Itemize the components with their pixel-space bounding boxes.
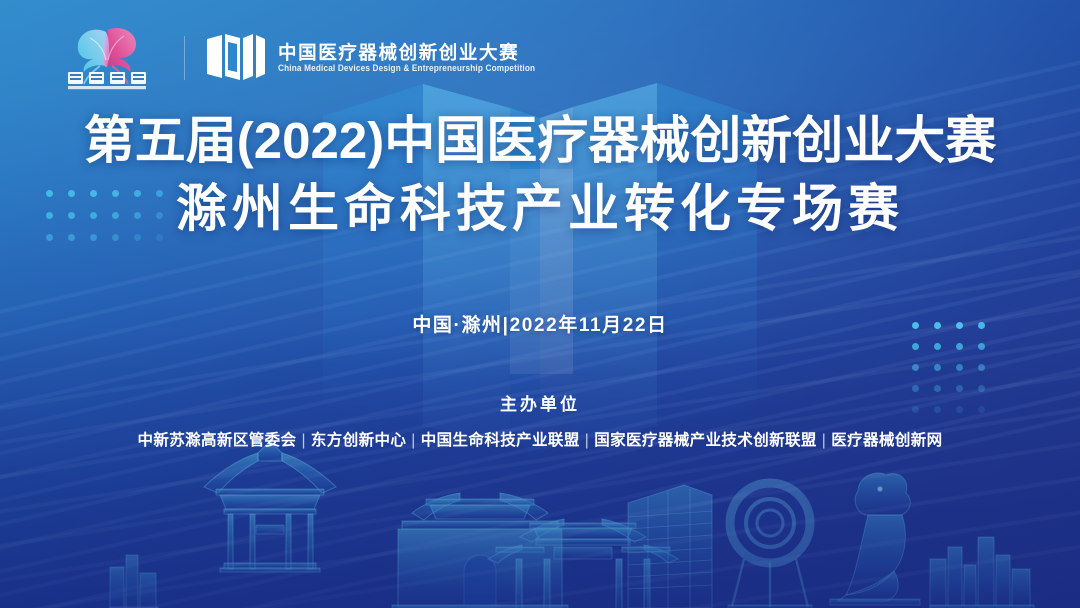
competition-title-cn: 中国医疗器械创新创业大赛 (278, 43, 535, 62)
organizer-name: 东方创新中心 (311, 432, 406, 449)
organizer-name: 医疗器械创新网 (831, 432, 942, 449)
page-title: 第五届(2022)中国医疗器械创新创业大赛 滁州生命科技产业转化专场赛 (0, 112, 1080, 238)
event-meta: 中国·滁州|2022年11月22日 (0, 310, 1080, 337)
organizer-name: 中新苏滁高新区管委会 (137, 432, 296, 449)
logo-divider (184, 36, 185, 80)
competition-logo[interactable]: 中国医疗器械创新创业大赛 China Medical Devices Desig… (207, 32, 535, 84)
poster-canvas: 中国医疗器械创新创业大赛 China Medical Devices Desig… (0, 0, 1080, 608)
competition-logo-text: 中国医疗器械创新创业大赛 China Medical Devices Desig… (278, 43, 535, 73)
header-logos: 中国医疗器械创新创业大赛 China Medical Devices Desig… (62, 22, 535, 94)
organizer-separator: | (580, 432, 594, 449)
bottom-glow-overlay (0, 328, 1080, 608)
competition-title-en: China Medical Devices Design & Entrepren… (278, 64, 535, 74)
organizer-separator: | (406, 432, 420, 449)
organizer-name: 国家医疗器械产业技术创新联盟 (594, 432, 817, 449)
organizers-list: 中新苏滁高新区管委会|东方创新中心|中国生命科技产业联盟|国家医疗器械产业技术创… (0, 428, 1080, 450)
open-door-mark-icon (207, 32, 265, 84)
skyline-silhouettes (0, 433, 1080, 608)
title-line-1: 第五届(2022)中国医疗器械创新创业大赛 (0, 112, 1080, 171)
organizers-heading: 主办单位 (0, 390, 1080, 415)
title-line-2: 滁州生命科技产业转化专场赛 (0, 180, 1080, 239)
organizer-separator: | (817, 432, 831, 449)
organizer-separator: | (296, 432, 310, 449)
innovation-china-logo[interactable] (62, 24, 166, 92)
organizer-name: 中国生命科技产业联盟 (421, 432, 580, 449)
